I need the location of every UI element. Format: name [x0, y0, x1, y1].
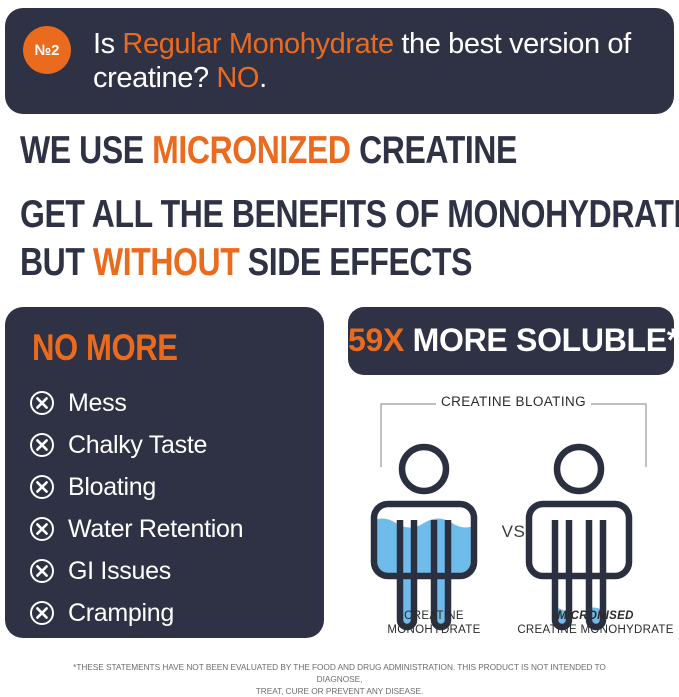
headline-3-accent: WITHOUT	[93, 241, 239, 284]
number-badge-label: №2	[34, 42, 59, 59]
figures-svg	[348, 392, 679, 642]
headline-1-post: CREATINE	[351, 129, 517, 172]
question-banner: №2 Is Regular Monohydrate the best versi…	[5, 8, 674, 114]
headline-line-1: WE USE MICRONIZED CREATINE	[20, 128, 553, 173]
list-item-label: Mess	[68, 390, 127, 417]
caption-right-line-1: MICRONISED	[508, 610, 679, 624]
question-text: Is Regular Monohydrate the best version …	[93, 27, 656, 95]
circle-x-icon	[29, 432, 55, 458]
headline-line-3: BUT WITHOUT SIDE EFFECTS	[20, 240, 553, 285]
soluble-multiplier: 59X	[348, 322, 404, 358]
headline-1-accent: MICRONIZED	[152, 129, 350, 172]
caption-left-line-2: MONOHYDRATE	[354, 624, 514, 638]
list-item-label: Cramping	[68, 600, 174, 627]
caption-right-line-2: CREATINE MONOHYDRATE	[508, 624, 679, 638]
bracket-icon	[381, 404, 646, 467]
no-more-title: NO MORE	[32, 329, 178, 367]
head-outline-left	[402, 447, 446, 491]
figure-micronised-creatine-monohydrate	[529, 447, 629, 637]
no-more-list: Mess Chalky Taste Bloating Water Retenti…	[29, 382, 310, 634]
bloating-comparison-diagram: CREATINE BLOATING	[348, 392, 679, 642]
soluble-text: 59X MORE SOLUBLE*	[348, 322, 674, 358]
list-item: Bloating	[29, 466, 310, 508]
list-item-label: Water Retention	[68, 516, 243, 543]
headline-block: WE USE MICRONIZED CREATINE GET ALL THE B…	[20, 128, 670, 285]
disclaimer: *THESE STATEMENTS HAVE NOT BEEN EVALUATE…	[50, 661, 629, 697]
soluble-banner: 59X MORE SOLUBLE*	[348, 307, 674, 375]
list-item-label: Bloating	[68, 474, 156, 501]
list-item: GI Issues	[29, 550, 310, 592]
figure-caption-left: CREATINE MONOHYDRATE	[354, 610, 514, 637]
caption-left-line-1: CREATINE	[354, 610, 514, 624]
circle-x-icon	[29, 474, 55, 500]
disclaimer-line-2: TREAT, CURE OR PREVENT ANY DISEASE.	[50, 685, 629, 697]
question-part-accent: Regular Monohydrate	[122, 28, 393, 60]
number-badge: №2	[23, 26, 71, 74]
list-item-label: Chalky Taste	[68, 432, 207, 459]
no-more-panel: NO MORE Mess Chalky Taste Bloating	[5, 307, 324, 638]
circle-x-icon	[29, 390, 55, 416]
headline-line-2: GET ALL THE BENEFITS OF MONOHYDRATE,	[20, 192, 553, 237]
circle-x-icon	[29, 558, 55, 584]
circle-x-icon	[29, 516, 55, 542]
headline-1-pre: WE USE	[20, 129, 152, 172]
list-item: Cramping	[29, 592, 310, 634]
question-period: .	[259, 62, 267, 94]
list-item: Chalky Taste	[29, 424, 310, 466]
list-item-label: GI Issues	[68, 558, 171, 585]
list-item: Mess	[29, 382, 310, 424]
list-item: Water Retention	[29, 508, 310, 550]
figure-caption-right: MICRONISED CREATINE MONOHYDRATE	[508, 610, 679, 637]
vs-label: VS	[348, 522, 679, 542]
question-answer: NO	[216, 62, 259, 94]
headline-3-pre: BUT	[20, 241, 93, 284]
soluble-rest: MORE SOLUBLE*	[404, 322, 679, 358]
headline-3-post: SIDE EFFECTS	[239, 241, 472, 284]
head-outline-right	[557, 447, 601, 491]
question-part-pre: Is	[93, 28, 122, 60]
circle-x-icon	[29, 600, 55, 626]
disclaimer-line-1: *THESE STATEMENTS HAVE NOT BEEN EVALUATE…	[50, 661, 629, 685]
